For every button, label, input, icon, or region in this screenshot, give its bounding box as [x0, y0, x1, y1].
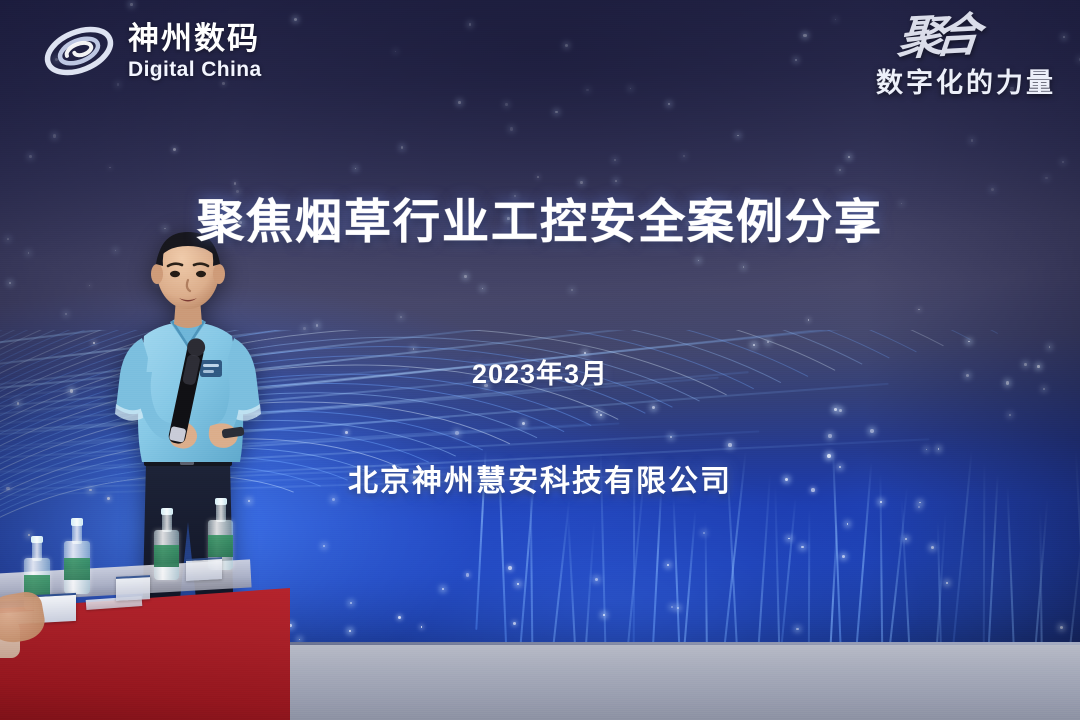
light-particle: [586, 89, 589, 92]
juhe-logo: 聚合 数字化的力量: [876, 16, 1056, 100]
brand-name-cn: 神州数码: [128, 23, 262, 54]
digital-china-wordmark: 神州数码 Digital China: [128, 23, 262, 80]
left-ear: [151, 264, 163, 284]
light-particle: [796, 628, 798, 630]
light-particle: [767, 341, 769, 343]
light-particle: [505, 103, 508, 106]
light-particle: [294, 18, 297, 21]
light-particle: [808, 319, 810, 321]
light-particle: [1062, 161, 1064, 163]
light-particle: [173, 148, 176, 151]
light-particle: [513, 622, 516, 625]
light-particle: [847, 523, 849, 525]
slide-date: 2023年3月: [0, 352, 1080, 391]
brand-name-en: Digital China: [128, 59, 262, 80]
light-particle: [508, 566, 512, 570]
light-particle: [466, 573, 470, 577]
light-particle: [743, 266, 745, 268]
light-particle: [395, 51, 396, 52]
light-particle: [870, 429, 874, 433]
water-bottle: [64, 518, 90, 594]
light-particle: [421, 626, 423, 628]
light-particle: [316, 324, 319, 327]
light-particle: [828, 434, 831, 437]
light-particle: [469, 23, 472, 26]
foreground-head-table: [0, 560, 290, 720]
light-particle: [401, 146, 403, 148]
light-particle: [630, 88, 631, 89]
slide-company-name: 北京神州慧安科技有限公司: [0, 456, 1080, 500]
light-particle: [28, 252, 29, 253]
light-particle: [880, 501, 882, 503]
light-particle: [737, 135, 739, 137]
light-particle: [652, 406, 655, 409]
light-particle: [400, 316, 402, 318]
light-particle: [683, 155, 684, 156]
light-particle: [53, 134, 56, 137]
left-eye: [170, 271, 180, 277]
right-ear: [213, 264, 225, 284]
light-particle: [464, 275, 466, 277]
light-particle: [1009, 414, 1011, 416]
light-particle: [29, 155, 32, 158]
light-particle: [355, 168, 357, 170]
light-particle: [918, 309, 919, 310]
light-particle: [1063, 36, 1066, 39]
light-particle: [728, 443, 732, 447]
light-particle: [668, 103, 670, 105]
light-particle: [117, 83, 120, 86]
light-particle: [458, 101, 461, 104]
light-particle: [801, 546, 804, 549]
light-particle: [839, 169, 841, 171]
light-particle: [842, 555, 845, 558]
light-particle: [222, 82, 225, 85]
light-particle: [835, 19, 837, 21]
light-particle: [848, 156, 850, 158]
light-particle: [677, 607, 679, 609]
light-particle: [9, 282, 11, 284]
light-stream: [808, 510, 811, 648]
light-particle: [109, 167, 111, 169]
light-particle: [1045, 177, 1048, 180]
light-particle: [795, 59, 797, 61]
light-particle: [65, 313, 67, 315]
light-particle: [595, 578, 598, 581]
light-particle: [926, 449, 927, 450]
light-particle: [510, 127, 513, 130]
swirl-galaxy-icon: [42, 20, 116, 82]
light-particle: [413, 348, 415, 350]
juhe-subtitle: 数字化的力量: [876, 61, 1056, 100]
light-particle: [299, 639, 301, 641]
light-particle: [971, 139, 973, 141]
light-particle: [517, 583, 519, 585]
juhe-calligraphy: 聚合: [874, 14, 972, 62]
light-particle: [537, 176, 539, 178]
conference-stage-photo: 聚焦烟草行业工控安全案例分享 2023年3月 北京神州慧安科技有限公司 神州数码…: [0, 0, 1080, 720]
light-particle: [803, 34, 806, 37]
light-particle: [614, 159, 616, 161]
light-particle: [482, 288, 483, 289]
light-particle: [565, 44, 568, 47]
digital-china-logo: 神州数码 Digital China: [42, 20, 262, 82]
slide-title: 聚焦烟草行业工控安全案例分享: [0, 183, 1080, 252]
water-bottle: [154, 508, 179, 580]
light-particle: [555, 111, 558, 114]
name-card: [186, 557, 222, 581]
name-card: [116, 575, 150, 601]
light-particle: [571, 289, 573, 291]
right-eye: [196, 271, 206, 277]
light-particle: [455, 431, 459, 435]
light-particle: [918, 506, 920, 508]
light-particle: [698, 260, 700, 262]
light-particle: [130, 3, 133, 6]
light-particle: [834, 408, 837, 411]
